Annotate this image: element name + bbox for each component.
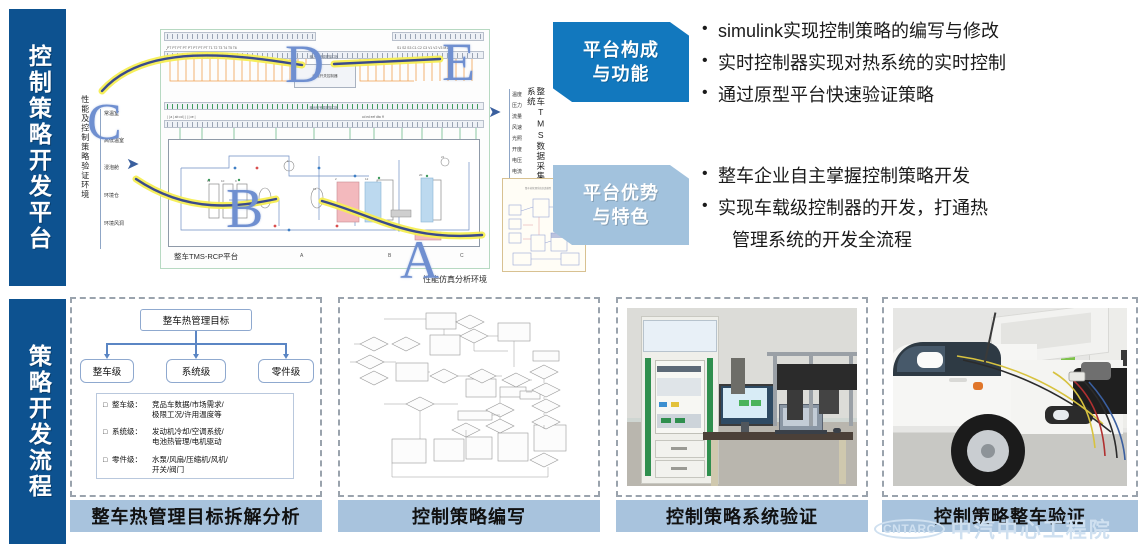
output-conditioning-board: 输出信号调理接口板: [164, 102, 484, 110]
panel-target-breakdown: 整车热管理目标 整车级 系统级 零件级 □ 整车级： 竞品车数据/市场需求/ 极…: [70, 297, 322, 497]
banner-platform-composition: 平台构成 与功能: [553, 22, 689, 102]
platform-caption: 整车TMS-RCP平台: [174, 251, 238, 262]
marker-letter-d: D: [285, 37, 324, 91]
svg-text:21: 21: [441, 155, 445, 159]
detail-row: □ 整车级： 竞品车数据/市场需求/ 极限工况/许用温度等: [103, 400, 287, 420]
env-item-2: 浸泡舱: [104, 164, 119, 171]
bullet-list-composition: simulink实现控制策略的编写与修改 实时控制器实现对热系统的实时控制 通过…: [700, 18, 1140, 114]
detail-level: 零件级：: [112, 455, 152, 465]
sidebar-tab-platform: 控制策略开发平台: [9, 9, 66, 286]
checkbox-icon: □: [103, 428, 112, 437]
rcp-platform-diagram: 性能及控制策略验证环境 常温室 高低温室 浸泡舱 环境仓 环境风洞 ➤ PT P…: [78, 9, 533, 290]
svg-text:2: 2: [335, 177, 337, 181]
daq-item-2: 流量: [512, 113, 522, 120]
detail-text: 发动机冷却/空调系统/ 电池热管理/电机驱动: [152, 427, 287, 447]
lab-bench-photo: [627, 308, 857, 486]
right-brace: [509, 89, 510, 181]
output-terminal-text: | | a | ab cd | | | | ce | cd ed eef dbc…: [166, 111, 484, 119]
bullet-list-advantage: 整车企业自主掌握控制策略开发 实现车载级控制器的开发，打通热 管理系统的开发全流…: [700, 163, 1140, 259]
daq-item-1: 压力: [512, 102, 522, 109]
marker-letter-b: B: [226, 181, 263, 237]
marker-letter-c: C: [87, 97, 122, 149]
env-item-4: 环境风洞: [104, 220, 124, 227]
column-mark-a: A: [300, 253, 303, 259]
daq-item-3: 风速: [512, 124, 522, 131]
sidebar-tab-flow-label: 策略开发流程: [25, 344, 51, 500]
panel-strategy-authoring: [338, 297, 600, 497]
control-strategy-flowchart: [348, 307, 590, 489]
svg-text:11: 11: [207, 179, 210, 183]
banner-platform-composition-label: 平台构成 与功能: [583, 38, 659, 87]
svg-text:12: 12: [365, 177, 369, 181]
breakdown-detail-box: □ 整车级： 竞品车数据/市场需求/ 极限工况/许用温度等 □ 系统级： 发动机…: [96, 393, 294, 479]
svg-text:20: 20: [419, 173, 423, 177]
column-mark-c: C: [460, 253, 464, 259]
banner-platform-advantage-label: 平台优势 与特色: [583, 181, 659, 230]
caption-strategy-vehicle-validation: 控制策略整车验证: [882, 500, 1138, 532]
sidebar-tab-platform-label: 控制策略开发平台: [25, 44, 51, 252]
bullet-item: 通过原型平台快速验证策略: [700, 82, 1140, 108]
checkbox-icon: □: [103, 401, 112, 410]
svg-text:cd ed eef dbc ff: cd ed eef dbc ff: [362, 115, 384, 119]
marker-letter-a: A: [400, 233, 439, 287]
detail-text: 水泵/风扇/压缩机/风机/ 开关/阀门: [152, 455, 287, 475]
left-arrow-icon: ➤: [126, 157, 139, 173]
detail-row: □ 系统级： 发动机冷却/空调系统/ 电池热管理/电机驱动: [103, 427, 287, 447]
bullet-item: 整车企业自主掌握控制策略开发: [700, 163, 1140, 189]
tree-root-node: 整车热管理目标: [140, 309, 252, 331]
panel-strategy-vehicle-validation: [882, 297, 1138, 497]
checkbox-icon: □: [103, 456, 112, 465]
detail-text: 竞品车数据/市场需求/ 极限工况/许用温度等: [152, 400, 287, 420]
daq-item-4: 光照: [512, 135, 522, 142]
daq-item-0: 温度: [512, 91, 522, 98]
daq-system-label: 整车TMS数据采集系统: [526, 87, 545, 187]
tree-level-vehicle: 整车级: [80, 359, 134, 383]
input-conditioning-board: 输入信号调理接口板: [164, 51, 484, 59]
svg-text:S1 S2 S3 C1 C2 C3 V1 V2 V3 M1: S1 S2 S3 C1 C2 C3 V1 V2 V3 M1: [397, 46, 448, 50]
detail-row: □ 零件级： 水泵/风扇/压缩机/风机/ 开关/阀门: [103, 455, 287, 475]
bullet-item: 实现车载级控制器的开发，打通热: [700, 195, 1140, 221]
svg-text:10: 10: [221, 179, 225, 183]
daq-item-6: 电压: [512, 157, 522, 164]
svg-text:14: 14: [313, 187, 317, 191]
daq-item-7: 电流: [512, 168, 522, 175]
output-board-label: 输出信号调理接口板: [310, 105, 339, 110]
caption-target-breakdown: 整车热管理目标拆解分析: [70, 500, 322, 532]
detail-level: 整车级：: [112, 400, 152, 410]
env-item-3: 环境仓: [104, 192, 119, 199]
detail-level: 系统级：: [112, 427, 152, 437]
bullet-item: simulink实现控制策略的编写与修改: [700, 18, 1140, 44]
caption-strategy-system-validation: 控制策略系统验证: [616, 500, 868, 532]
tree-level-system: 系统级: [166, 359, 226, 383]
column-mark-b: B: [388, 253, 391, 259]
right-arrow-icon: ➤: [488, 105, 501, 121]
banner-platform-advantage: 平台优势 与特色: [553, 165, 689, 245]
svg-text:整车热管理系统仿真模型: 整车热管理系统仿真模型: [525, 186, 552, 190]
bullet-item: 实时控制器实现对热系统的实时控制: [700, 50, 1140, 76]
svg-text:PT PT PT PT PT PT PT PT T1 T2: PT PT PT PT PT PT PT PT T1 T2 T3 T4 T5 T…: [167, 46, 237, 50]
bullet-item-continuation: 管理系统的开发全流程: [700, 227, 1140, 253]
tree-stem: [195, 331, 197, 343]
daq-item-5: 开度: [512, 146, 522, 153]
marker-letter-e: E: [442, 35, 475, 89]
panel-strategy-system-validation: [616, 297, 868, 497]
sidebar-tab-flow: 策略开发流程: [9, 299, 66, 544]
tree-level-component: 零件级: [258, 359, 314, 383]
instrumented-vehicle-photo: [893, 308, 1127, 486]
terminal-rack-bottom: [164, 120, 484, 128]
caption-strategy-authoring: 控制策略编写: [338, 500, 600, 532]
svg-text:| | a | ab cd | | | | ce |: | | a | ab cd | | | | ce |: [167, 115, 196, 119]
